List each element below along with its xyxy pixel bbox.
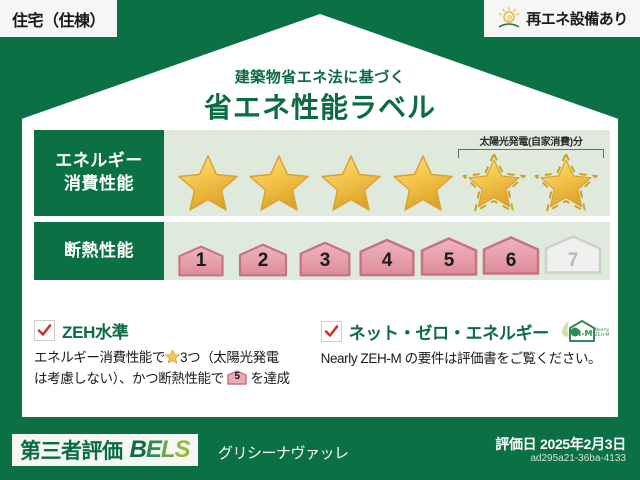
inline-star-icon <box>165 349 180 364</box>
badge-building-type-label: 住宅（住棟） <box>12 7 105 31</box>
row-insulation-label: 断熱性能 <box>34 222 164 280</box>
star-rating <box>164 152 610 214</box>
bels-jp-text: 第三者評価 <box>20 435 123 465</box>
insulation-level-1: 1 <box>171 245 231 277</box>
insulation-level-2: 2 <box>233 243 293 277</box>
badge-building-type: 住宅（住棟） <box>0 0 117 37</box>
star-icon-6-solar <box>534 152 598 214</box>
row-energy-label-line1: エネルギー <box>55 150 143 173</box>
zeh-m-logo-text: H-M <box>575 329 593 338</box>
insulation-level-2-number: 2 <box>233 250 293 272</box>
evaluation-id: ad295a21-36ba-4133 <box>530 453 626 464</box>
bels-logo: 第三者評価 BELS <box>12 434 198 466</box>
inline-house-badge: 5 <box>227 370 247 385</box>
nze-checkbox[interactable] <box>321 321 342 342</box>
insulation-level-4: 4 <box>357 238 417 277</box>
zeh-checkbox[interactable] <box>34 320 55 341</box>
insulation-level-3-number: 3 <box>295 250 355 272</box>
bels-letter-l: L <box>161 436 175 463</box>
energy-performance-label: 住宅（住棟） @ 再エネ設備あり 建築物省エネ法に基づく 省エネ性能ラベル <box>0 0 640 480</box>
insulation-level-7-number: 7 <box>543 250 603 272</box>
zeh-m-logo-icon: H-M Nearly ZEH-M <box>558 318 610 344</box>
criteria-zeh-body: エネルギー消費性能で 3つ（太陽光発電 は考慮しない）、かつ断熱性能で 5 を達… <box>34 348 311 390</box>
row-insulation-performance: 断熱性能 1 <box>34 222 610 280</box>
check-icon <box>324 324 339 339</box>
bels-letter-b: B <box>130 436 146 463</box>
insulation-level-6-number: 6 <box>481 250 541 272</box>
insulation-level-1-number: 1 <box>171 250 231 272</box>
evaluation-date: 評価日 2025年2月3日 <box>495 434 626 454</box>
footer-bar: 第三者評価 BELS グリシーナヴァッレ 評価日 2025年2月3日 ad295… <box>0 426 640 480</box>
star-icon-5-solar <box>462 152 526 214</box>
row-energy-label-line2: 消費性能 <box>64 173 134 196</box>
criteria-net-zero-energy: ネット・ゼロ・エネルギー H-M Nearly ZEH-M Nearly ZEH… <box>321 318 610 390</box>
solar-bracket-label: 太陽光発電(自家消費)分 <box>458 133 604 148</box>
criteria-sections: ZEH水準 エネルギー消費性能で 3つ（太陽光発電 は考慮しない）、かつ断熱性能… <box>34 318 610 390</box>
criteria-zeh-header: ZEH水準 <box>34 318 311 343</box>
criteria-zeh-body-part3: を達成 <box>250 371 289 386</box>
star-icon-3 <box>319 152 383 214</box>
row-insulation-label-text: 断熱性能 <box>64 240 134 263</box>
inline-house-badge-number: 5 <box>227 369 247 385</box>
criteria-nze-title: ネット・ゼロ・エネルギー <box>349 319 549 344</box>
criteria-zeh-body-part2: は考慮しない）、かつ断熱性能で <box>34 371 224 386</box>
bels-letter-s: S <box>175 436 190 463</box>
property-name: グリシーナヴァッレ <box>218 442 349 463</box>
svg-text:ZEH-M: ZEH-M <box>595 332 610 338</box>
criteria-nze-body: Nearly ZEH-M の要件は評価書をご覧ください。 <box>321 349 610 370</box>
badge-renewable-label: 再エネ設備あり <box>526 8 628 29</box>
insulation-level-7: 7 <box>543 232 603 277</box>
row-energy-performance: エネルギー 消費性能 太陽光発電(自家消費)分 <box>34 130 610 216</box>
insulation-level-6: 6 <box>481 234 541 277</box>
star-icon-2 <box>247 152 311 214</box>
performance-rows: エネルギー 消費性能 太陽光発電(自家消費)分 <box>34 130 610 286</box>
star-icon-4 <box>391 152 455 214</box>
star-icon-1 <box>176 152 240 214</box>
row-energy-body: 太陽光発電(自家消費)分 <box>164 130 610 216</box>
insulation-level-4-number: 4 <box>357 250 417 272</box>
row-insulation-body: 1 2 3 <box>164 222 610 280</box>
row-energy-label: エネルギー 消費性能 <box>34 130 164 216</box>
insulation-scale: 1 2 3 <box>164 232 610 277</box>
bels-en-text: BELS <box>130 436 190 464</box>
criteria-zeh-body-part1: エネルギー消費性能で <box>34 350 165 365</box>
panel-subtitle: 建築物省エネ法に基づく <box>22 66 618 87</box>
badge-renewable-equipment: @ 再エネ設備あり <box>484 0 640 37</box>
criteria-zeh: ZEH水準 エネルギー消費性能で 3つ（太陽光発電 は考慮しない）、かつ断熱性能… <box>34 318 311 390</box>
criteria-zeh-title: ZEH水準 <box>62 318 129 343</box>
criteria-nze-header: ネット・ゼロ・エネルギー H-M Nearly ZEH-M <box>321 318 610 344</box>
check-icon <box>37 323 52 338</box>
page-title: 省エネ性能ラベル <box>22 86 618 126</box>
criteria-zeh-body-stars: 3つ（太陽光発電 <box>180 350 279 365</box>
insulation-level-5: 5 <box>419 236 479 277</box>
bels-letter-e: E <box>146 436 161 463</box>
sun-solar-icon: @ <box>496 6 522 32</box>
insulation-level-3: 3 <box>295 241 355 277</box>
svg-text:@: @ <box>506 14 512 21</box>
insulation-level-5-number: 5 <box>419 250 479 272</box>
